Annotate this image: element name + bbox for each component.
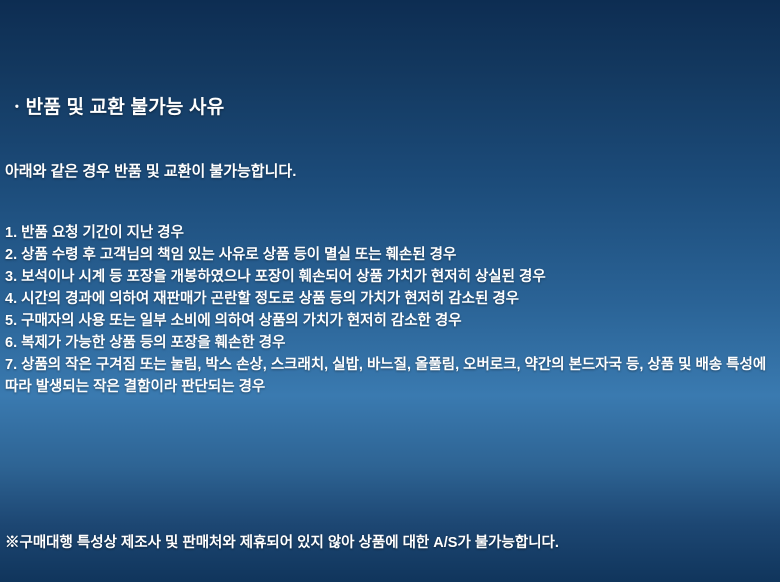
intro-text: 아래와 같은 경우 반품 및 교환이 불가능합니다. [5,160,296,181]
list-item: 7. 상품의 작은 구겨짐 또는 눌림, 박스 손상, 스크래치, 실밥, 바느… [5,354,775,398]
list-item: 3. 보석이나 시계 등 포장을 개봉하였으나 포장이 훼손되어 상품 가치가 … [5,266,775,288]
slide-content: ㆍ반품 및 교환 불가능 사유 아래와 같은 경우 반품 및 교환이 불가능합니… [0,0,780,582]
page-title: ㆍ반품 및 교환 불가능 사유 [8,92,224,119]
footnote-text: ※구매대행 특성상 제조사 및 판매처와 제휴되어 있지 않아 상품에 대한 A… [5,531,559,552]
slide-background: ㆍ반품 및 교환 불가능 사유 아래와 같은 경우 반품 및 교환이 불가능합니… [0,0,780,582]
list-item: 4. 시간의 경과에 의하여 재판매가 곤란할 정도로 상품 등의 가치가 현저… [5,288,775,310]
list-item: 2. 상품 수령 후 고객님의 책임 있는 사유로 상품 등이 멸실 또는 훼손… [5,244,775,266]
list-item: 6. 복제가 가능한 상품 등의 포장을 훼손한 경우 [5,332,775,354]
list-item: 1. 반품 요청 기간이 지난 경우 [5,222,775,244]
list-item: 5. 구매자의 사용 또는 일부 소비에 의하여 상품의 가치가 현저히 감소한… [5,310,775,332]
reason-list: 1. 반품 요청 기간이 지난 경우 2. 상품 수령 후 고객님의 책임 있는… [5,222,775,398]
